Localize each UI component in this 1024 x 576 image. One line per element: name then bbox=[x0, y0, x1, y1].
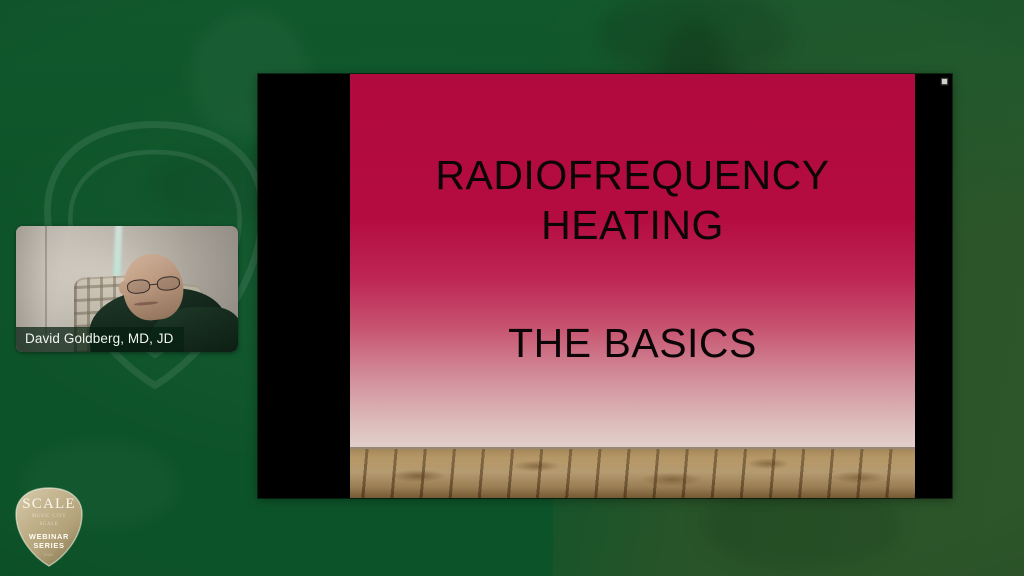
logo-line-6: 2021 bbox=[44, 553, 54, 557]
shared-screen-frame[interactable]: RADIOFREQUENCY HEATING THE BASICS bbox=[258, 74, 952, 498]
logo-line-3: SCALE bbox=[40, 521, 59, 527]
webinar-stage: RADIOFREQUENCY HEATING THE BASICS bbox=[0, 0, 1024, 576]
participant-name-label: David Goldberg, MD, JD bbox=[16, 327, 184, 352]
presentation-slide: RADIOFREQUENCY HEATING THE BASICS bbox=[350, 74, 915, 498]
slide-text-block: RADIOFREQUENCY HEATING THE BASICS bbox=[350, 74, 915, 498]
participant-video-tile[interactable]: David Goldberg, MD, JD bbox=[16, 226, 238, 352]
slide-subtitle: THE BASICS bbox=[508, 318, 757, 368]
slide-title-line-2: HEATING bbox=[541, 200, 724, 250]
logo-line-4: WEBINAR bbox=[29, 532, 69, 541]
screen-artifact-dot bbox=[942, 79, 947, 84]
logo-line-1: SCALE bbox=[22, 496, 76, 512]
slide-wooden-floor bbox=[350, 449, 915, 498]
logo-line-2: MUSIC CITY bbox=[32, 513, 67, 519]
scale-webinar-series-logo-icon: SCALE MUSIC CITY SCALE WEBINAR SERIES 20… bbox=[12, 486, 86, 568]
logo-line-5: SERIES bbox=[33, 541, 64, 550]
slide-title-line-1: RADIOFREQUENCY bbox=[435, 150, 829, 200]
